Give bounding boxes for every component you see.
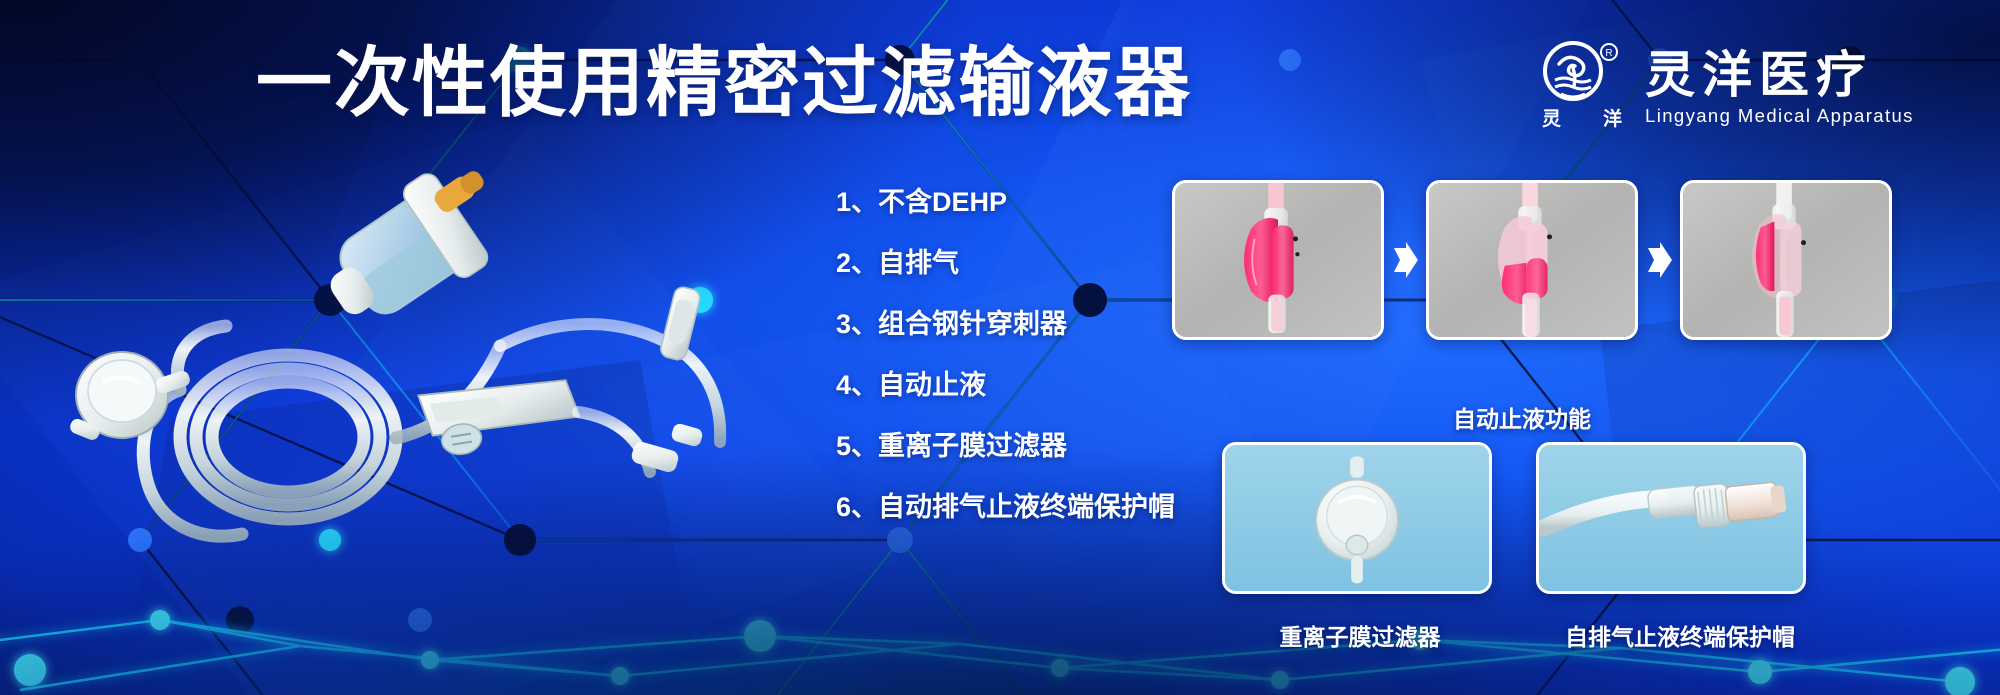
sequence-frame-1 bbox=[1172, 180, 1384, 340]
arrow-right-icon-2 bbox=[1638, 180, 1680, 340]
brand-name-cn: 灵洋医疗 bbox=[1645, 49, 1914, 102]
auto-stop-sequence-row bbox=[1172, 180, 1892, 340]
feature-item-5: 5、重离子膜过滤器 bbox=[836, 416, 1175, 477]
product-photo-infusion-set bbox=[30, 150, 730, 550]
component-photo-filter bbox=[1222, 442, 1492, 594]
logo-cn-right: 洋 bbox=[1603, 104, 1622, 131]
feature-list: 1、不含DEHP 2、自排气 3、组合钢针穿刺器 4、自动止液 5、重离子膜过滤… bbox=[836, 172, 1175, 538]
product-banner: 一次性使用精密过滤输液器 R 灵 洋 灵洋医疗 Lingyang Medical… bbox=[0, 0, 2000, 695]
feature-item-6: 6、自动排气止液终端保护帽 bbox=[836, 477, 1175, 538]
brand-lockup: R 灵 洋 灵洋医疗 Lingyang Medical Apparatus bbox=[1539, 40, 1914, 136]
page-title: 一次性使用精密过滤输液器 bbox=[256, 46, 1192, 122]
auto-stop-caption: 自动止液功能 bbox=[1172, 400, 1872, 434]
sequence-frame-2 bbox=[1426, 180, 1638, 340]
component-photo-cap bbox=[1536, 442, 1806, 594]
component-caption-cap: 自排气止液终端保护帽 bbox=[1542, 618, 1818, 652]
feature-item-2: 2、自排气 bbox=[836, 233, 1175, 294]
component-caption-filter: 重离子膜过滤器 bbox=[1222, 618, 1498, 652]
feature-item-3: 3、组合钢针穿刺器 bbox=[836, 294, 1175, 355]
component-caption-row: 重离子膜过滤器 自排气止液终端保护帽 bbox=[1222, 618, 1818, 652]
sequence-frame-3 bbox=[1680, 180, 1892, 340]
brand-text-block: 灵洋医疗 Lingyang Medical Apparatus bbox=[1645, 49, 1914, 127]
feature-item-1: 1、不含DEHP bbox=[836, 172, 1175, 233]
brand-name-en: Lingyang Medical Apparatus bbox=[1645, 105, 1914, 127]
component-card-row bbox=[1222, 442, 1806, 594]
logo-cn-characters: 灵 洋 bbox=[1539, 104, 1625, 131]
logo-cn-left: 灵 bbox=[1542, 104, 1561, 131]
arrow-right-icon-1 bbox=[1384, 180, 1426, 340]
inline-connector bbox=[630, 422, 704, 474]
feature-item-4: 4、自动止液 bbox=[836, 355, 1175, 416]
svg-text:R: R bbox=[1605, 48, 1612, 59]
company-logo-icon: R 灵 洋 bbox=[1539, 40, 1625, 136]
